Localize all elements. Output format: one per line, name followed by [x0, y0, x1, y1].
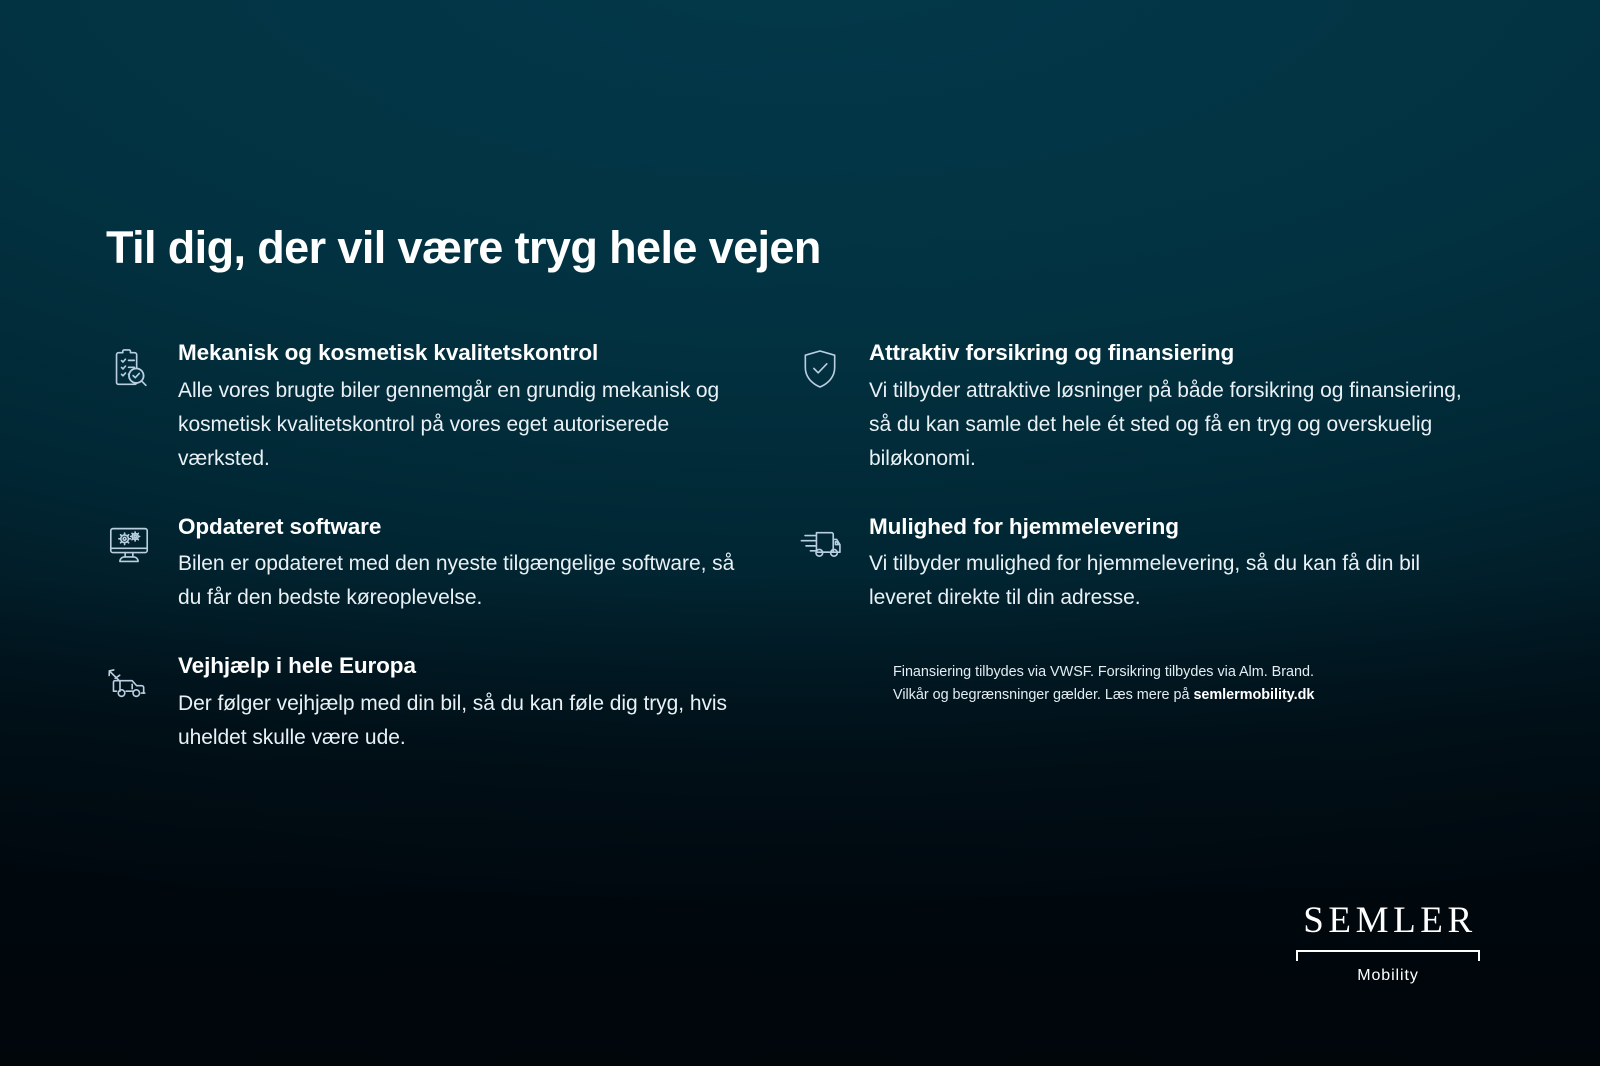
- fineprint-disclaimer: Finansiering tilbydes via VWSF. Forsikri…: [893, 661, 1485, 706]
- feature-title: Vejhjælp i hele Europa: [178, 653, 744, 680]
- feature-item-insurance-financing: Attraktiv forsikring og finansiering Vi …: [795, 340, 1485, 476]
- logo-wordmark: SEMLER: [1294, 902, 1482, 939]
- clipboard-check-magnifier-icon: [104, 344, 154, 394]
- tow-truck-icon: [104, 657, 154, 707]
- shield-check-icon: [795, 344, 845, 394]
- logo-tick-left: [1296, 950, 1298, 961]
- feature-title: Opdateret software: [178, 514, 744, 541]
- feature-description: Vi tilbyder attraktive løsninger på både…: [869, 374, 1485, 476]
- feature-column-left: Mekanisk og kosmetisk kvalitetskontrol A…: [104, 340, 744, 755]
- feature-item-updated-software: Opdateret software Bilen er opdateret me…: [104, 514, 744, 616]
- feature-item-quality-control: Mekanisk og kosmetisk kvalitetskontrol A…: [104, 340, 744, 476]
- fineprint-line-2: Vilkår og begrænsninger gælder. Læs mere…: [893, 684, 1485, 706]
- monitor-gears-icon: [104, 518, 154, 568]
- feature-title: Mekanisk og kosmetisk kvalitetskontrol: [178, 340, 744, 367]
- feature-description: Vi tilbyder mulighed for hjemmelevering,…: [869, 547, 1485, 615]
- fineprint-line-2-text: Vilkår og begrænsninger gælder. Læs mere…: [893, 687, 1193, 703]
- feature-description: Der følger vejhjælp med din bil, så du k…: [178, 687, 744, 755]
- semlermobility-link[interactable]: semlermobility.dk: [1193, 687, 1314, 703]
- semler-mobility-logo: SEMLER Mobility: [1294, 902, 1482, 984]
- feature-column-right: Attraktiv forsikring og finansiering Vi …: [795, 340, 1485, 706]
- feature-item-home-delivery: Mulighed for hjemmelevering Vi tilbyder …: [795, 514, 1485, 616]
- feature-description: Alle vores brugte biler gennemgår en gru…: [178, 374, 744, 476]
- delivery-truck-icon: [795, 518, 845, 568]
- feature-item-roadside-assistance: Vejhjælp i hele Europa Der følger vejhjæ…: [104, 653, 744, 755]
- feature-description: Bilen er opdateret med den nyeste tilgæn…: [178, 547, 744, 615]
- poster-canvas: Til dig, der vil være tryg hele vejen: [0, 0, 1600, 1066]
- page-title: Til dig, der vil være tryg hele vejen: [106, 222, 821, 274]
- fineprint-line-1: Finansiering tilbydes via VWSF. Forsikri…: [893, 661, 1485, 683]
- feature-title: Mulighed for hjemmelevering: [869, 514, 1485, 541]
- feature-title: Attraktiv forsikring og finansiering: [869, 340, 1485, 367]
- logo-divider: [1294, 950, 1482, 961]
- logo-tick-right: [1478, 950, 1480, 961]
- logo-subtitle: Mobility: [1294, 968, 1482, 984]
